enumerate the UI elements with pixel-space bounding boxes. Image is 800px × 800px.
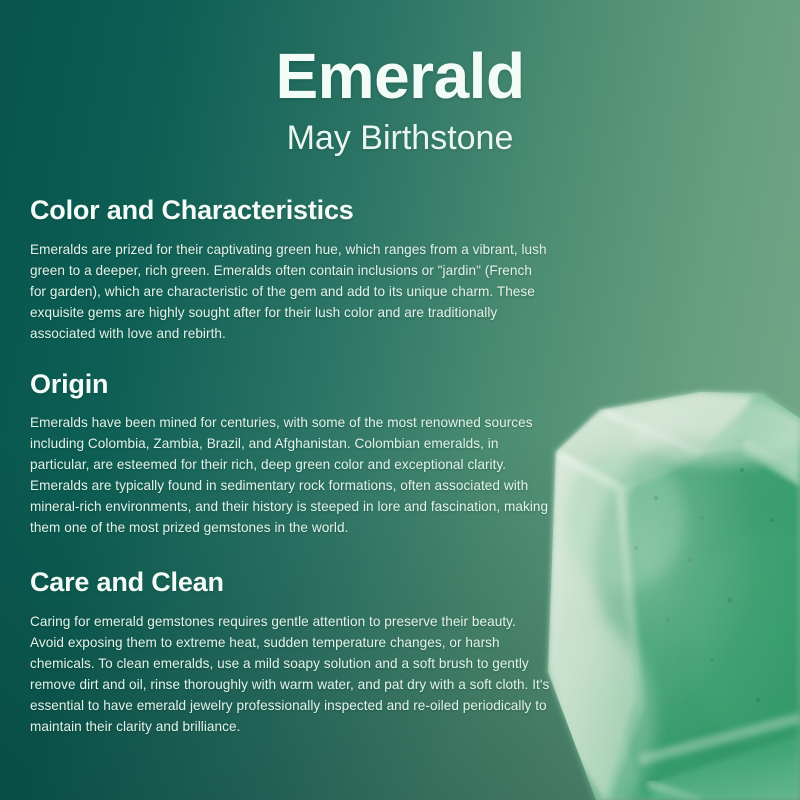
section-body: Emeralds have been mined for centuries, … [30, 412, 550, 538]
section-body: Emeralds are prized for their captivatin… [30, 239, 550, 344]
section-care-and-clean: Care and Clean Caring for emerald gemsto… [30, 568, 550, 737]
section-heading: Color and Characteristics [30, 196, 550, 226]
content-sections: Color and Characteristics Emeralds are p… [30, 196, 550, 737]
section-body: Caring for emerald gemstones requires ge… [30, 611, 550, 737]
page-title: Emerald [0, 0, 800, 111]
section-heading: Origin [30, 370, 550, 400]
section-origin: Origin Emeralds have been mined for cent… [30, 370, 550, 539]
poster-header: Emerald May Birthstone [0, 0, 800, 158]
page-subtitle: May Birthstone [0, 111, 800, 158]
section-heading: Care and Clean [30, 568, 550, 598]
emerald-poster: Emerald May Birthstone Color and Charact… [0, 0, 800, 800]
section-color-and-characteristics: Color and Characteristics Emeralds are p… [30, 196, 550, 344]
crystal-body [548, 392, 800, 800]
